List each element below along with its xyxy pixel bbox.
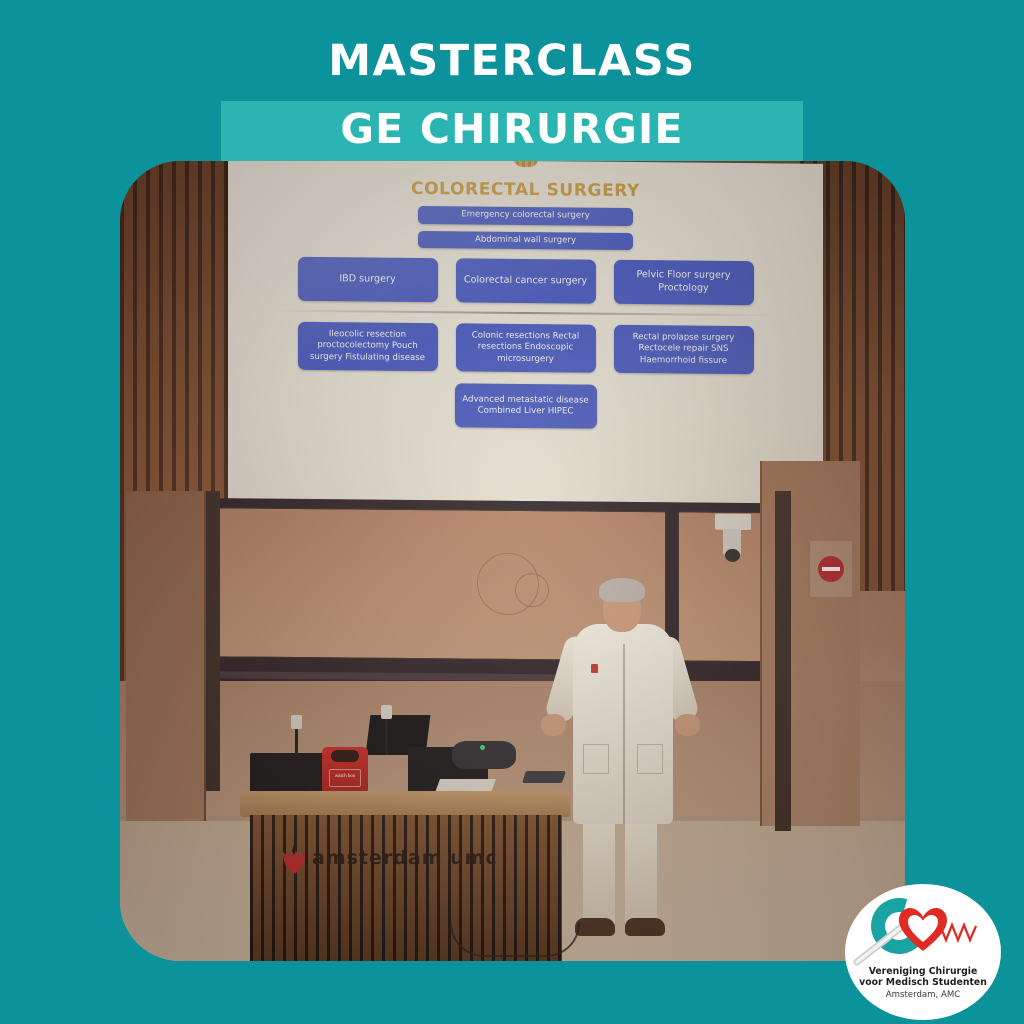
slide-box-ibd: IBD surgery [298, 257, 438, 302]
logo-text-block: Vereniging Chirurgie voor Medisch Studen… [845, 966, 1001, 1001]
door-left [126, 491, 206, 821]
slide-bottom-row: Advanced metastatic disease Combined Liv… [228, 381, 823, 431]
slide-box-rectal-prolapse: Rectal prolapse surgery Rectocele repair… [614, 325, 754, 374]
microphone-right [381, 705, 392, 719]
slide-box-emergency: Emergency colorectal surgery [418, 206, 633, 226]
lectern-top-surface [240, 791, 570, 817]
slide-box-advanced-metastatic: Advanced metastatic disease Combined Liv… [455, 383, 597, 428]
suture-zigzag-icon [933, 922, 979, 944]
mic-stand-right [385, 717, 388, 755]
red-box-lid [331, 750, 359, 762]
amsterdam-umc-tulip-icon [280, 843, 308, 877]
coat-badge [591, 664, 598, 673]
speaker-leg-right [625, 820, 657, 924]
slide-sub-row: Ileocolic resection proctocolectomy Pouc… [228, 321, 823, 375]
floor-cable [450, 923, 580, 957]
speaker-hand-left [541, 714, 566, 736]
coat-pocket-left [583, 744, 609, 774]
coat-seam [623, 644, 625, 824]
red-equipment-box: watch box [322, 747, 368, 795]
page-title: MASTERCLASS [0, 36, 1024, 86]
status-led-icon [480, 745, 485, 750]
projection-screen: COLORECTAL SURGERY Emergency colorectal … [228, 161, 823, 504]
slide-decoration-icon [513, 161, 539, 167]
logo-line-1: Vereniging Chirurgie [845, 966, 1001, 977]
lectern-brand-label: amsterdam umc [312, 847, 498, 869]
slide-main-row: IBD surgery Colorectal cancer surgery Pe… [228, 256, 823, 306]
red-box-label: watch box [329, 769, 361, 787]
coat-pocket-right [637, 744, 663, 774]
event-photo-card: COLORECTAL SURGERY Emergency colorectal … [120, 161, 905, 961]
speaker-leg-left [583, 820, 615, 924]
microphone-left [291, 715, 302, 729]
organisation-logo-badge: Vereniging Chirurgie voor Medisch Studen… [845, 884, 1001, 1020]
slide-banner-row-2: Abdominal wall surgery [228, 229, 823, 252]
speaker-lab-coat [573, 624, 673, 824]
logo-line-2: voor Medisch Studenten [845, 977, 1001, 988]
speaker-hand-right [675, 714, 700, 736]
speaker-shoe-right [625, 918, 665, 936]
slide-title: COLORECTAL SURGERY [228, 177, 823, 203]
no-entry-icon [818, 556, 844, 582]
ceiling-camera-mount [715, 514, 751, 530]
whiteboard-frame [204, 498, 840, 690]
headset-device [452, 741, 516, 769]
mic-stand-left [295, 725, 298, 755]
slide-box-ileocolic: Ileocolic resection proctocolectomy Pouc… [298, 322, 438, 371]
page-subtitle: GE CHIRURGIE [221, 105, 803, 153]
slide-banner-row-1: Emergency colorectal surgery [228, 204, 823, 227]
monitor-left [250, 753, 328, 795]
logo-line-3: Amsterdam, AMC [845, 989, 1001, 1001]
speaker-presenter [533, 576, 709, 961]
slide-box-pelvic-floor: Pelvic Floor surgery Proctology [614, 260, 754, 305]
speaker-hair [599, 578, 645, 602]
slide-box-colorectal-cancer: Colorectal cancer surgery [456, 258, 596, 303]
speaker-shoe-left [575, 918, 615, 936]
structural-pillar-right [775, 491, 791, 831]
slide-box-abdominal: Abdominal wall surgery [418, 230, 633, 250]
slide-box-colonic: Colonic resections Rectal resections End… [456, 323, 596, 372]
slide-divider [273, 310, 778, 317]
structural-pillar-left [206, 491, 220, 791]
camera-lens-icon [725, 549, 740, 562]
